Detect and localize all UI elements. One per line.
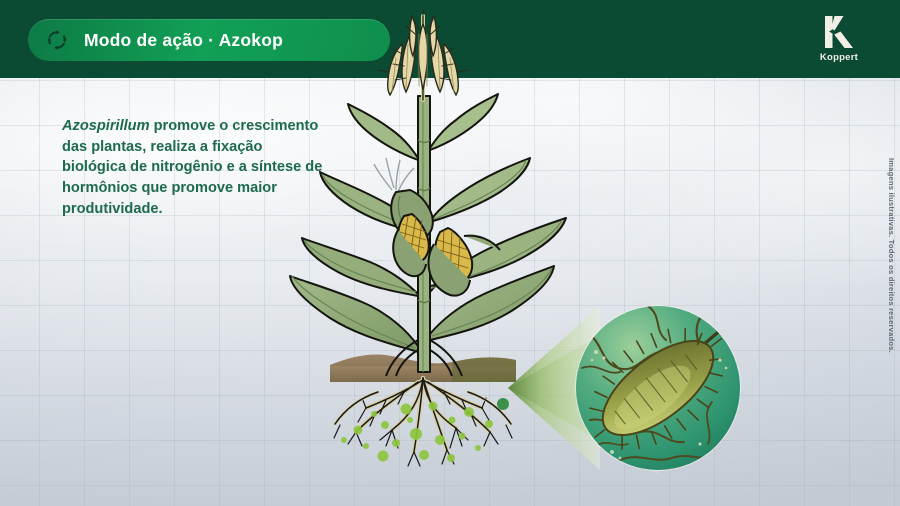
koppert-k-icon bbox=[819, 14, 859, 50]
header-bar: Modo de ação · Azokop Koppert bbox=[0, 0, 900, 78]
rights-notice: Imagens ilustrativas. Todos os direitos … bbox=[887, 158, 896, 353]
corn-plant bbox=[290, 94, 566, 376]
cycle-arrows-icon bbox=[44, 27, 70, 53]
slide-canvas: Modo de ação · Azokop Koppert bbox=[0, 0, 900, 506]
species-name: Azospirillum bbox=[62, 118, 150, 134]
corn-silk-icon bbox=[374, 158, 414, 192]
badge-label: Modo de ação · Azokop bbox=[84, 30, 283, 51]
koppert-logo: Koppert bbox=[800, 14, 878, 68]
body-paragraph: Azospirillum promove o crescimento das p… bbox=[62, 116, 330, 220]
mode-of-action-badge[interactable]: Modo de ação · Azokop bbox=[28, 19, 390, 61]
logo-wordmark: Koppert bbox=[820, 52, 858, 63]
